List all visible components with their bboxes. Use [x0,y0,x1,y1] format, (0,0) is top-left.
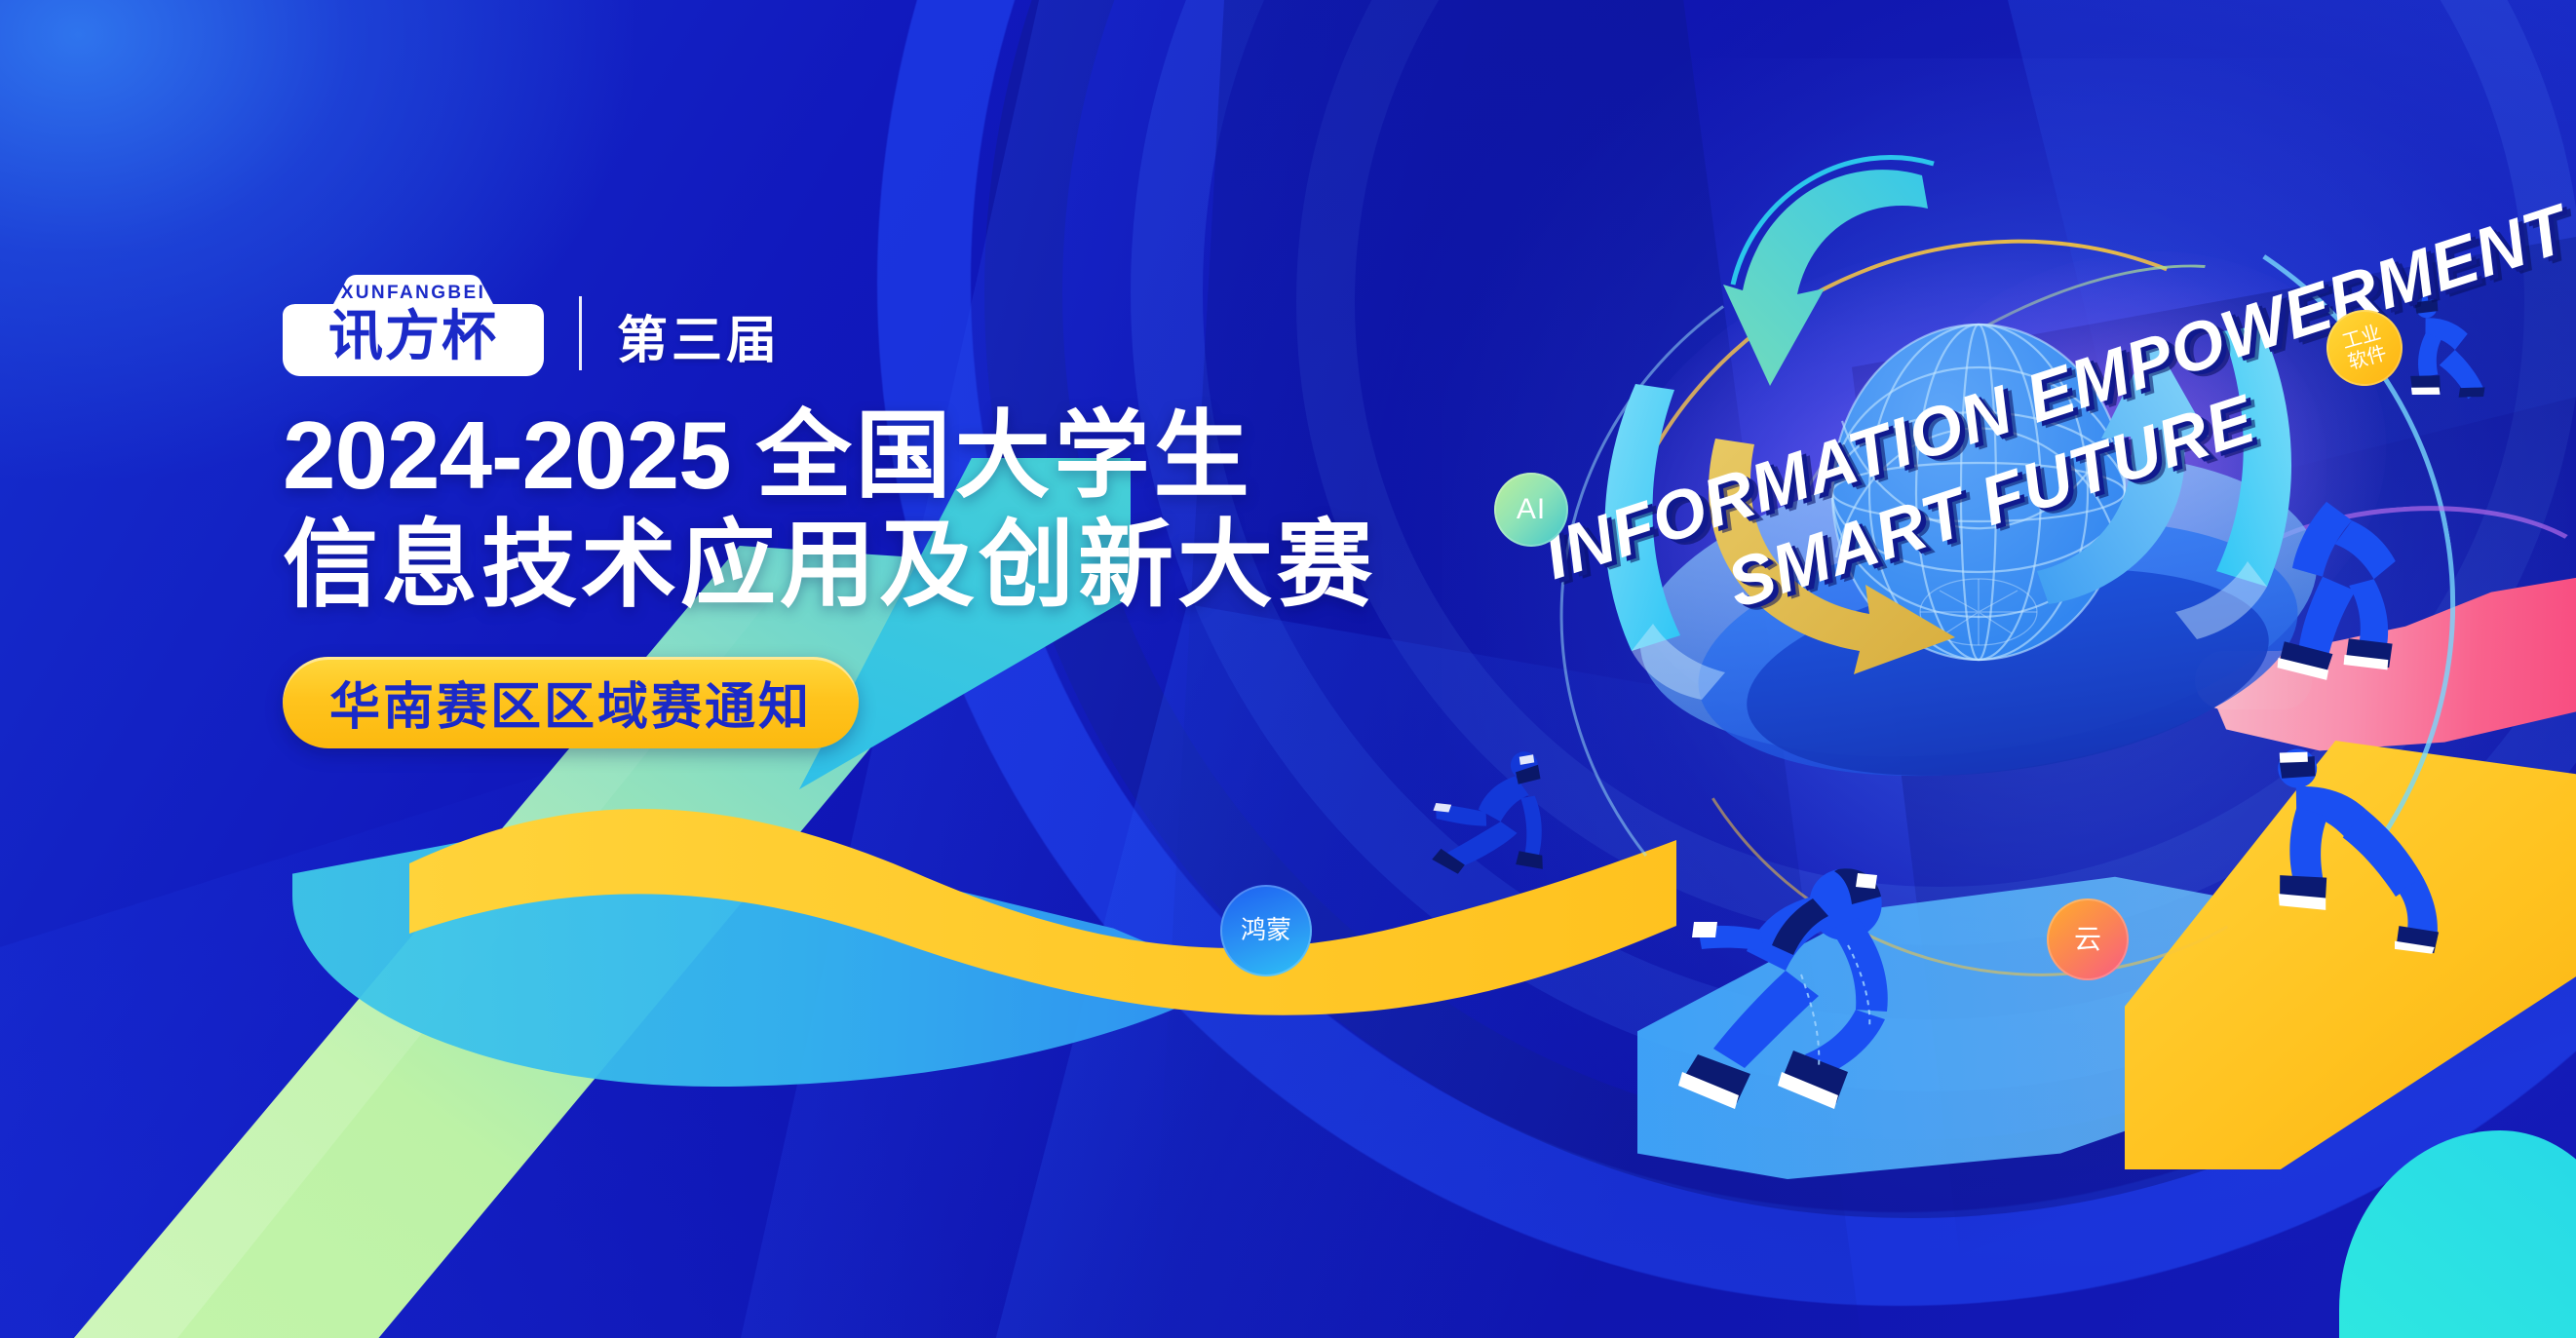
edition-label: 第三届 [617,299,781,378]
runner-figure-3 [2232,478,2446,692]
runner-figure-1 [1411,734,1571,885]
xunfangbei-logo: XUNFANGBEI 讯方杯 [283,275,544,378]
headline-content: XUNFANGBEI 讯方杯 第三届 2024-2025全国大学生 信息技术应用… [283,261,1550,748]
badge-cloud: 云 [2047,898,2129,980]
title-line-1: 2024-2025全国大学生 [283,403,1550,509]
logo-divider [579,296,582,370]
runner-figure-2 [1657,828,1949,1140]
page-title: 2024-2025全国大学生 信息技术应用及创新大赛 [283,403,1550,618]
badge-cloud-label: 云 [2074,924,2101,954]
title-year-range: 2024-2025 [283,401,731,509]
logo-cn-text: 讯方杯 [328,305,498,366]
badge-harmony: 鸿蒙 [1220,885,1312,976]
logo-row: XUNFANGBEI 讯方杯 第三届 [283,261,1550,378]
title-line-2: 信息技术应用及创新大赛 [283,513,1550,618]
title-line-1-cn: 全国大学生 [756,401,1253,509]
logo-pinyin-text: XUNFANGBEI [341,283,486,303]
region-notice-label: 华南赛区区域赛通知 [329,666,812,739]
badge-harmony-label: 鸿蒙 [1241,916,1291,944]
promo-banner: INFORMATION EMPOWERMENT SMART FUTURE AI … [0,0,2576,1338]
region-notice-pill[interactable]: 华南赛区区域赛通知 [283,657,859,748]
